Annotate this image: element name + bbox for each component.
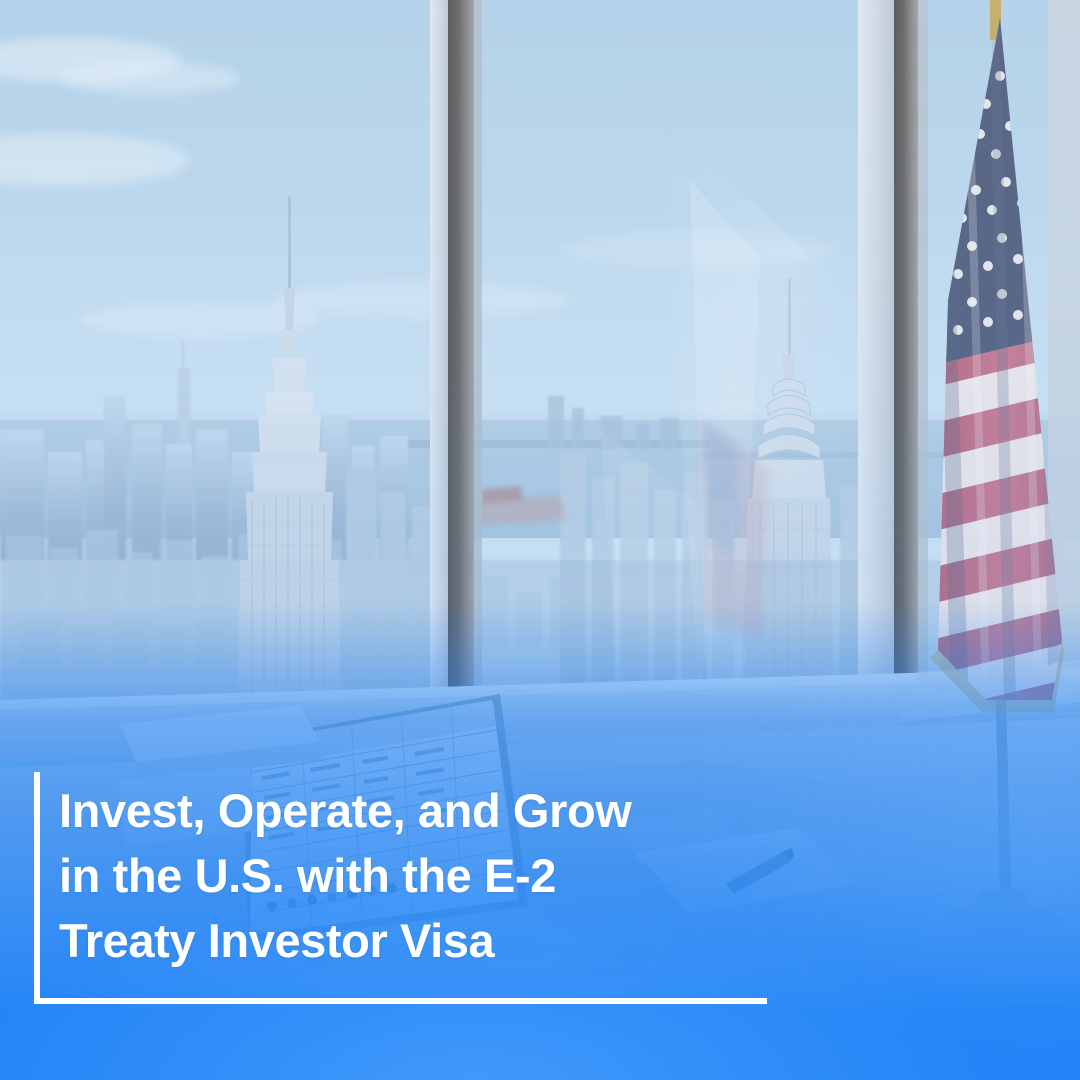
city-skyline-mid (346, 470, 434, 720)
headline-line-1: Invest, Operate, and Grow (59, 778, 759, 843)
banner-canvas: Invest, Operate, and Grow in the U.S. wi… (0, 0, 1080, 1080)
headline-line-2: in the U.S. with the E-2 (59, 843, 759, 908)
window-mullion-left (430, 0, 482, 700)
window-mullion-right (858, 0, 928, 700)
headline-line-3: Treaty Investor Visa (59, 908, 759, 973)
page-title: Invest, Operate, and Grow in the U.S. wi… (59, 778, 759, 973)
